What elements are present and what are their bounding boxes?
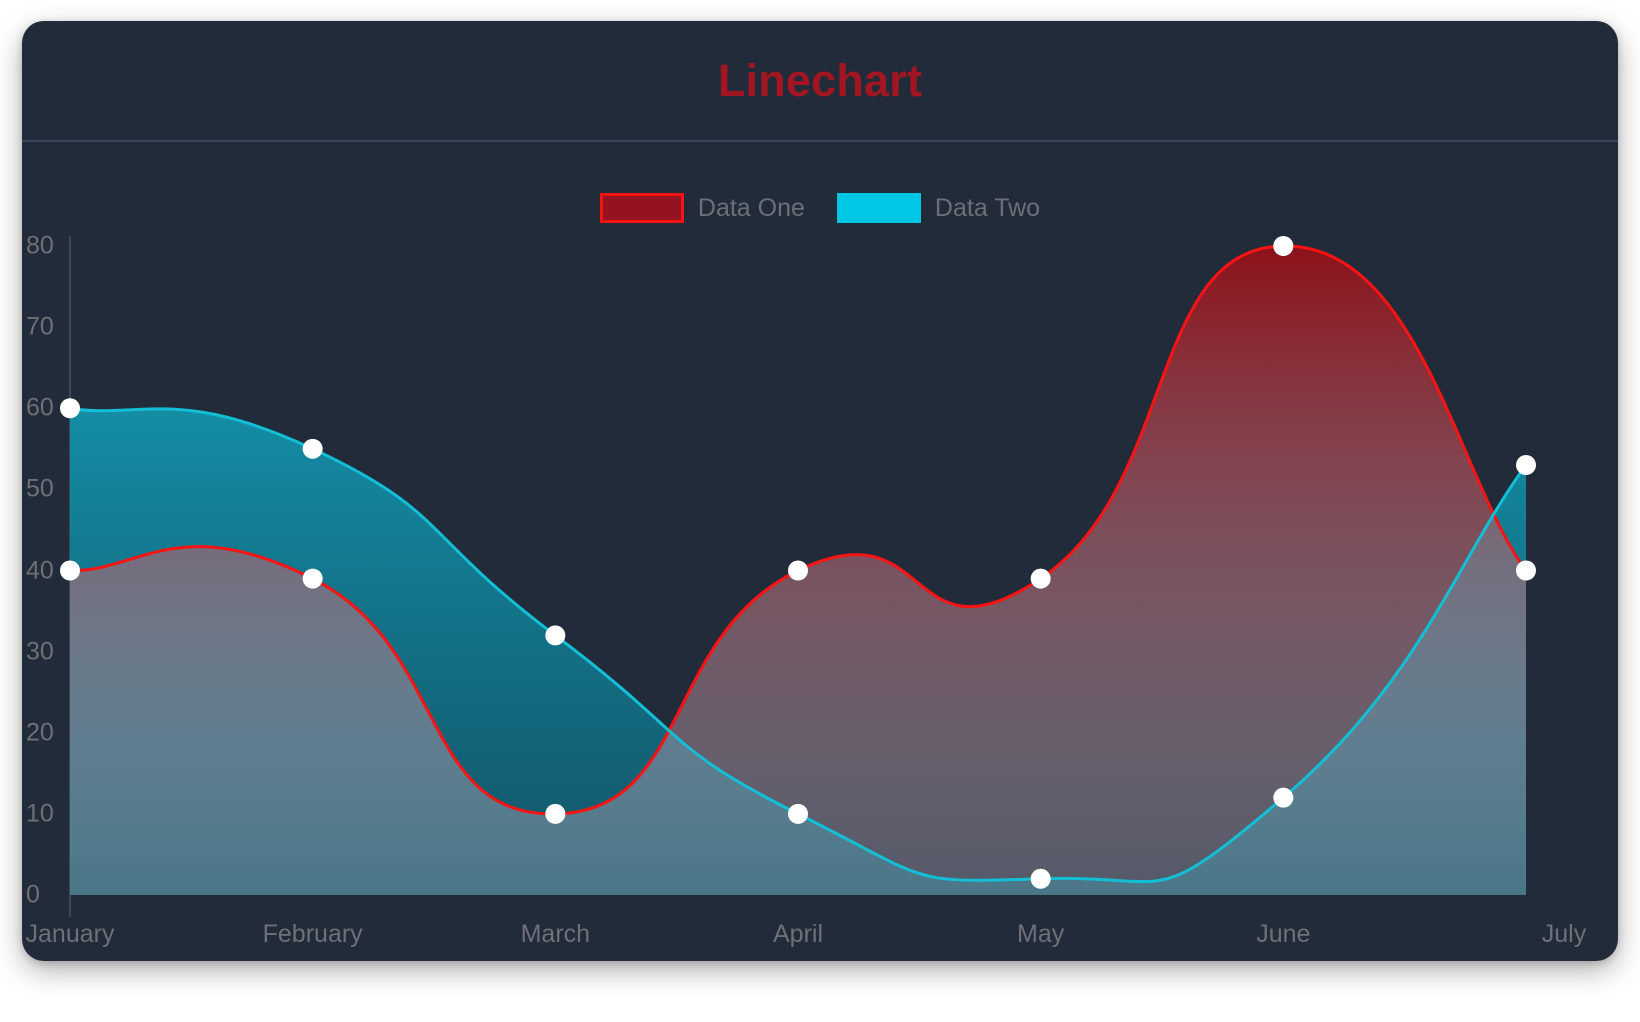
y-axis-tick-label: 30 <box>26 639 54 664</box>
y-axis-tick-label: 50 <box>26 477 54 502</box>
x-axis-tick-label: March <box>521 922 590 947</box>
data-point[interactable] <box>303 569 323 589</box>
y-axis-tick-label: 10 <box>26 801 54 826</box>
data-point[interactable] <box>1031 569 1051 589</box>
x-axis-tick-label: April <box>773 922 823 947</box>
x-axis-tick-label: January <box>26 922 115 947</box>
y-axis-tick-label: 70 <box>26 315 54 340</box>
data-point[interactable] <box>1516 455 1536 475</box>
data-point[interactable] <box>545 804 565 824</box>
plot-area: 01020304050607080 JanuaryFebruaryMarchAp… <box>22 21 1618 961</box>
y-axis-tick-label: 40 <box>26 558 54 583</box>
y-axis-tick-label: 80 <box>26 234 54 259</box>
x-axis-tick-label: May <box>1017 922 1064 947</box>
x-axis-tick-label: June <box>1256 922 1310 947</box>
x-axis-tick-label: July <box>1542 922 1586 947</box>
y-axis-tick-label: 0 <box>26 883 40 908</box>
data-point[interactable] <box>788 561 808 581</box>
data-point[interactable] <box>1273 788 1293 808</box>
y-axis-tick-label: 60 <box>26 396 54 421</box>
y-axis-tick-label: 20 <box>26 720 54 745</box>
chart-canvas <box>22 21 1618 961</box>
data-point[interactable] <box>1273 236 1293 256</box>
data-point[interactable] <box>1031 869 1051 889</box>
data-point[interactable] <box>303 439 323 459</box>
data-point[interactable] <box>1516 561 1536 581</box>
chart-page: Linechart Data One Data Two 010203040506… <box>0 0 1640 1022</box>
x-axis-tick-label: February <box>263 922 363 947</box>
linechart-card: Linechart Data One Data Two 010203040506… <box>22 21 1618 961</box>
data-point[interactable] <box>788 804 808 824</box>
data-point[interactable] <box>60 561 80 581</box>
data-point[interactable] <box>545 625 565 645</box>
data-point[interactable] <box>60 398 80 418</box>
